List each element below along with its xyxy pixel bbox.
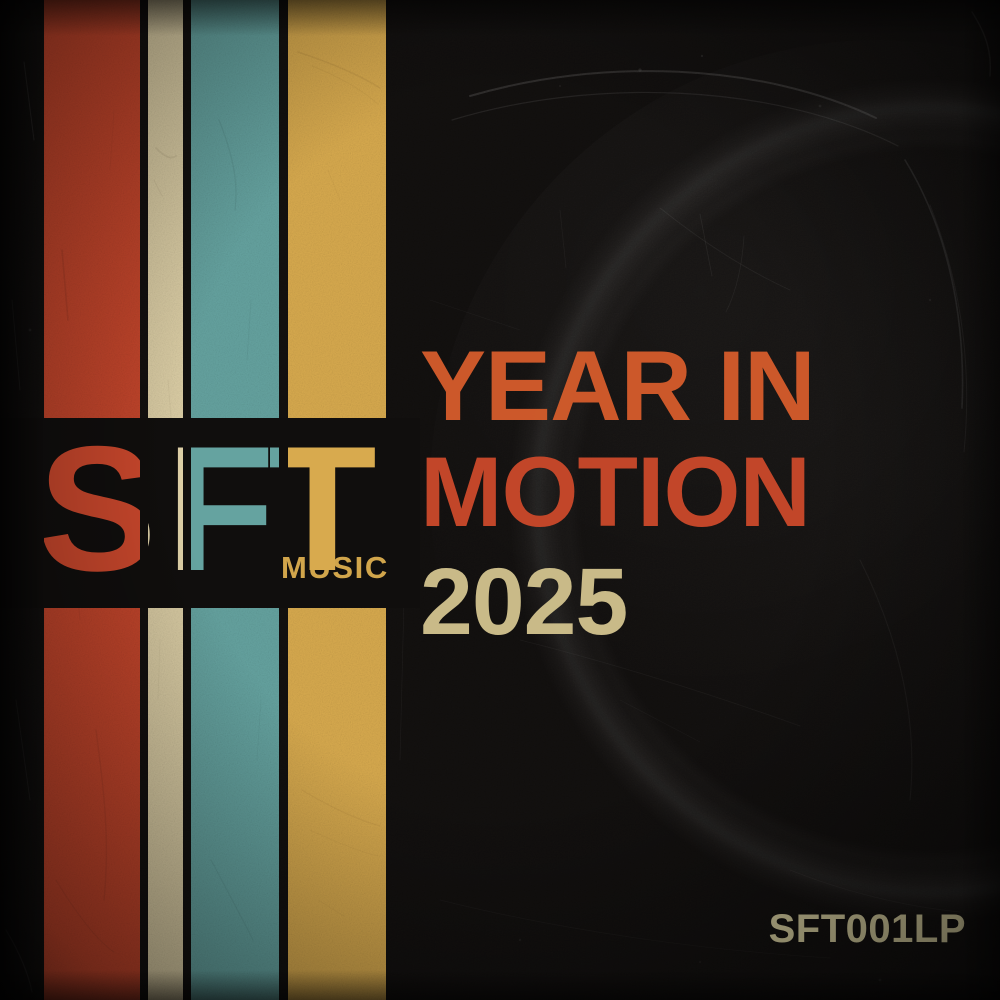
catalog-number: SFT001LP (769, 907, 966, 952)
title-line-2: MOTION (420, 444, 940, 540)
album-cover: S F T (0, 0, 1000, 1000)
logo-sub-label: MUSIC (281, 552, 389, 583)
title-line-1: YEAR IN (420, 338, 940, 434)
title-block: YEAR IN MOTION 2025 (420, 338, 940, 648)
title-year: 2025 (420, 556, 940, 648)
